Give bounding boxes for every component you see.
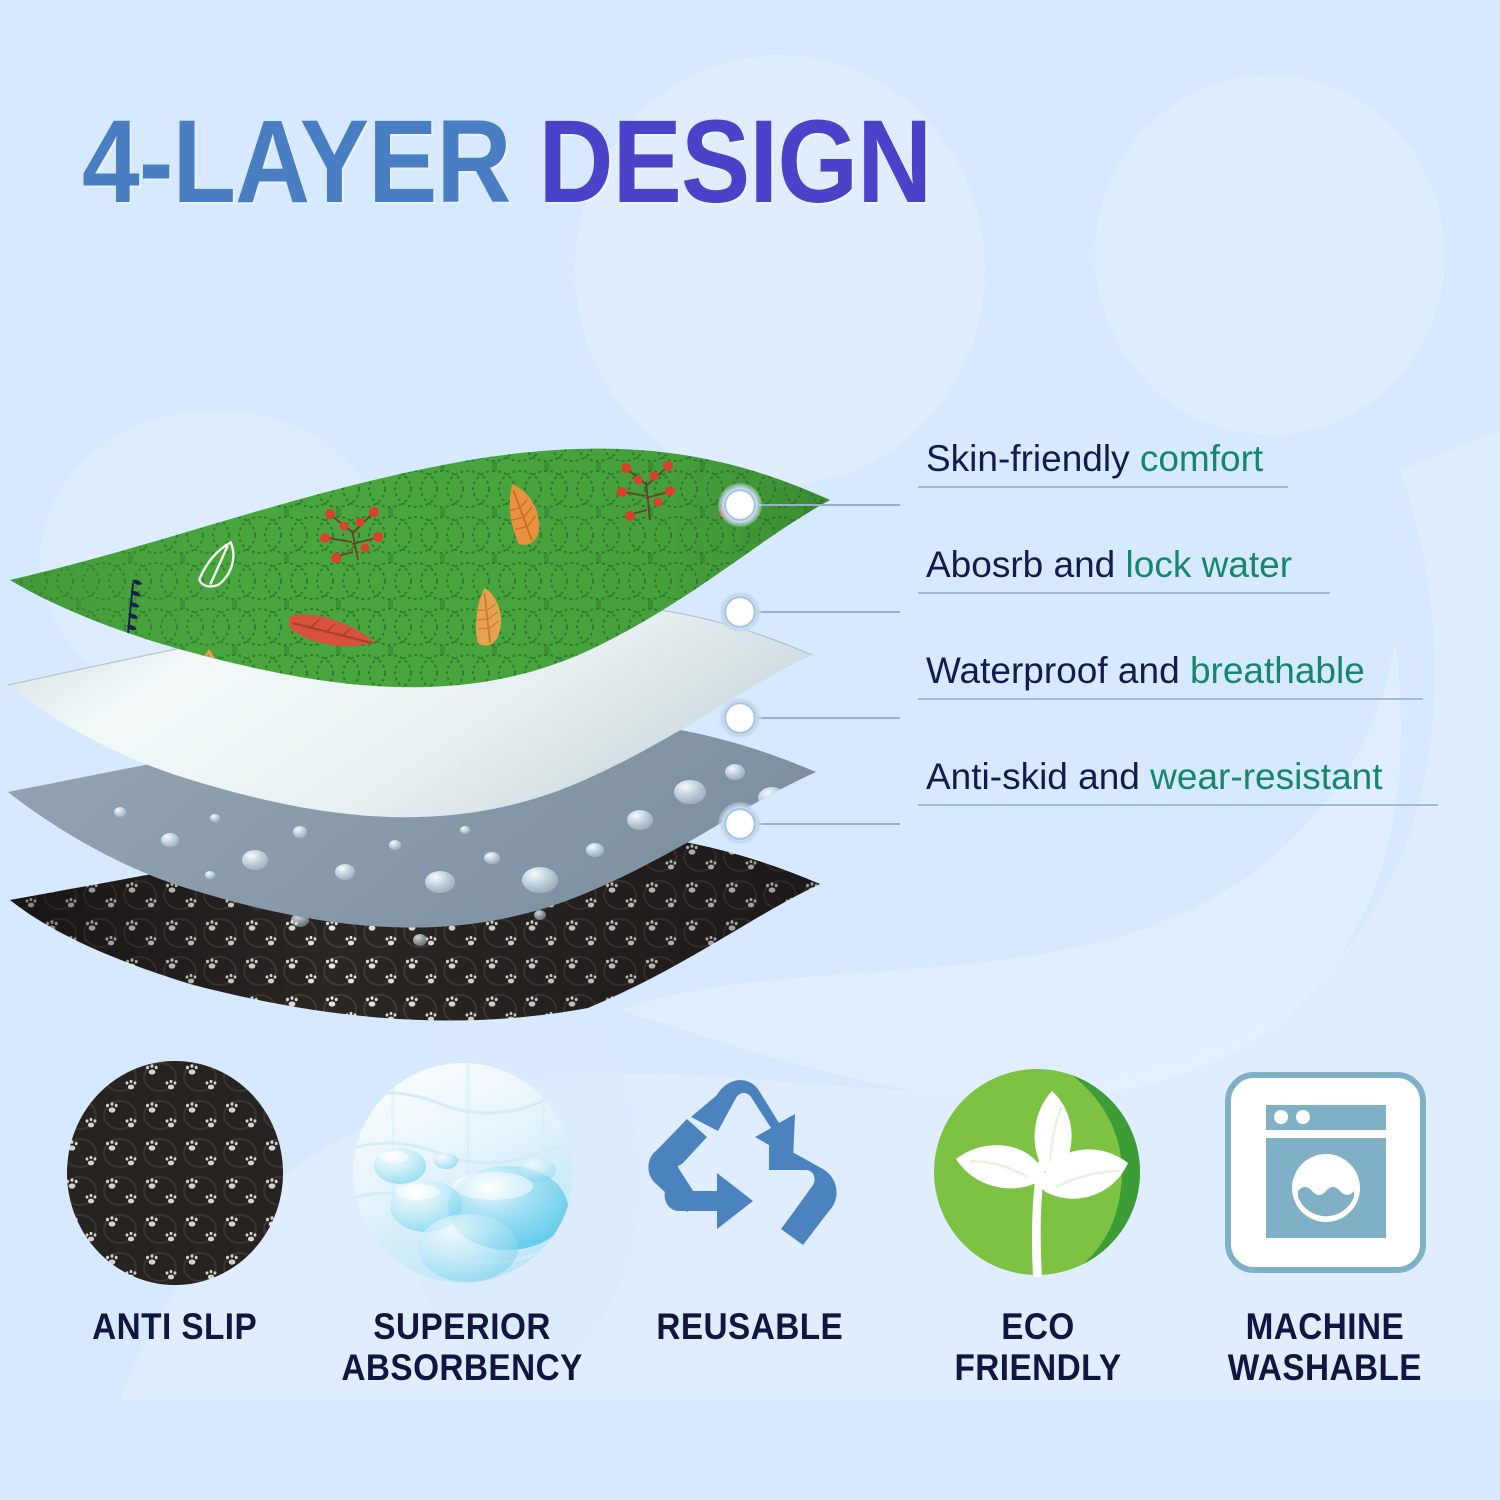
feature-art — [60, 1055, 290, 1290]
callout-text-waterproof: Waterproof and breathable — [918, 652, 1423, 698]
pawprint-fabric-circle-icon — [60, 1058, 290, 1288]
callout-rule — [918, 698, 1423, 700]
callout-dot-anti-skid[interactable] — [718, 802, 762, 846]
feature-art — [1218, 1055, 1433, 1290]
callout-absorb: Abosrb and lock water — [918, 546, 1330, 594]
feature-caption: MACHINEWASHABLE — [1228, 1306, 1422, 1389]
washing-machine-icon — [1218, 1065, 1433, 1280]
callout-rule — [918, 592, 1330, 594]
callout-anti-skid: Anti-skid and wear-resistant — [918, 758, 1438, 806]
feature-caption: REUSABLE — [657, 1306, 844, 1347]
callout-skin-friendly: Skin-friendly comfort — [918, 440, 1288, 488]
feature-machine-washable: MACHINEWASHABLE — [1190, 1055, 1460, 1389]
feature-art — [930, 1055, 1145, 1290]
water-bubbles-circle-icon — [348, 1058, 578, 1288]
feature-anti-slip: ANTI SLIP — [40, 1055, 310, 1347]
feature-eco-friendly: ECO FRIENDLY — [903, 1055, 1173, 1389]
feature-caption: SUPERIORABSORBENCY — [342, 1306, 583, 1389]
callout-dot-skin-friendly[interactable] — [718, 483, 762, 527]
callout-dot-absorb[interactable] — [718, 590, 762, 634]
callout-text-anti-skid: Anti-skid and wear-resistant — [918, 758, 1438, 804]
feature-art — [643, 1055, 858, 1290]
feature-row: ANTI SLIP — [40, 1055, 1460, 1455]
feature-superior-absorbency: SUPERIORABSORBENCY — [328, 1055, 598, 1389]
callout-waterproof: Waterproof and breathable — [918, 652, 1423, 700]
layer-callout-labels: Skin-friendly comfort Abosrb and lock wa… — [918, 440, 1478, 860]
layer-diagram — [0, 420, 900, 1040]
callout-text-absorb: Abosrb and lock water — [918, 546, 1330, 592]
title-part-two: DESIGN — [539, 96, 932, 228]
feature-caption: ECO FRIENDLY — [916, 1306, 1159, 1389]
feature-caption: ANTI SLIP — [92, 1306, 257, 1347]
feature-reusable: REUSABLE — [615, 1055, 885, 1347]
callout-rule — [918, 804, 1438, 806]
callout-text-skin-friendly: Skin-friendly comfort — [918, 440, 1288, 486]
page-title: 4-LAYER DESIGN — [82, 103, 931, 221]
title-part-one: 4-LAYER — [82, 96, 511, 228]
recycle-arrows-icon — [643, 1073, 858, 1273]
callout-dot-waterproof[interactable] — [718, 696, 762, 740]
leaf-sprout-circle-icon — [930, 1065, 1145, 1280]
feature-art — [348, 1055, 578, 1290]
callout-rule — [918, 486, 1288, 488]
